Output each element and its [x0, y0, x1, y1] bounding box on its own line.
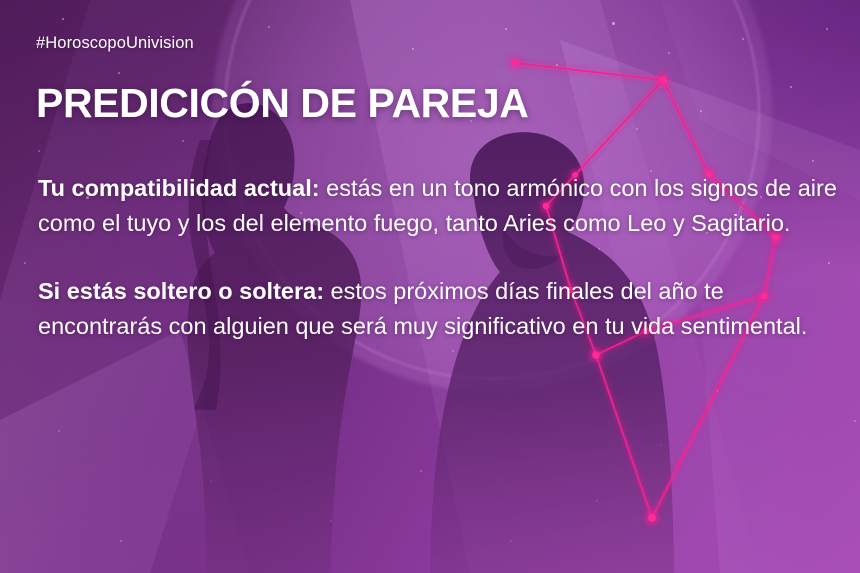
- paragraph-single-lead: Si estás soltero o soltera:: [38, 278, 324, 304]
- paragraph-compatibility-lead: Tu compatibilidad actual:: [38, 175, 320, 201]
- body-copy: Tu compatibilidad actual: estás en un to…: [38, 171, 838, 344]
- paragraph-single: Si estás soltero o soltera: estos próxim…: [38, 274, 838, 344]
- page-title: PREDICICÓN DE PAREJA: [36, 82, 826, 125]
- paragraph-compatibility: Tu compatibilidad actual: estás en un to…: [38, 171, 838, 241]
- hashtag-label: #HoroscopoUnivision: [36, 34, 826, 53]
- content-area: #HoroscopoUnivision PREDICICÓN DE PAREJA…: [0, 0, 860, 573]
- horoscope-card: #HoroscopoUnivision PREDICICÓN DE PAREJA…: [0, 0, 860, 573]
